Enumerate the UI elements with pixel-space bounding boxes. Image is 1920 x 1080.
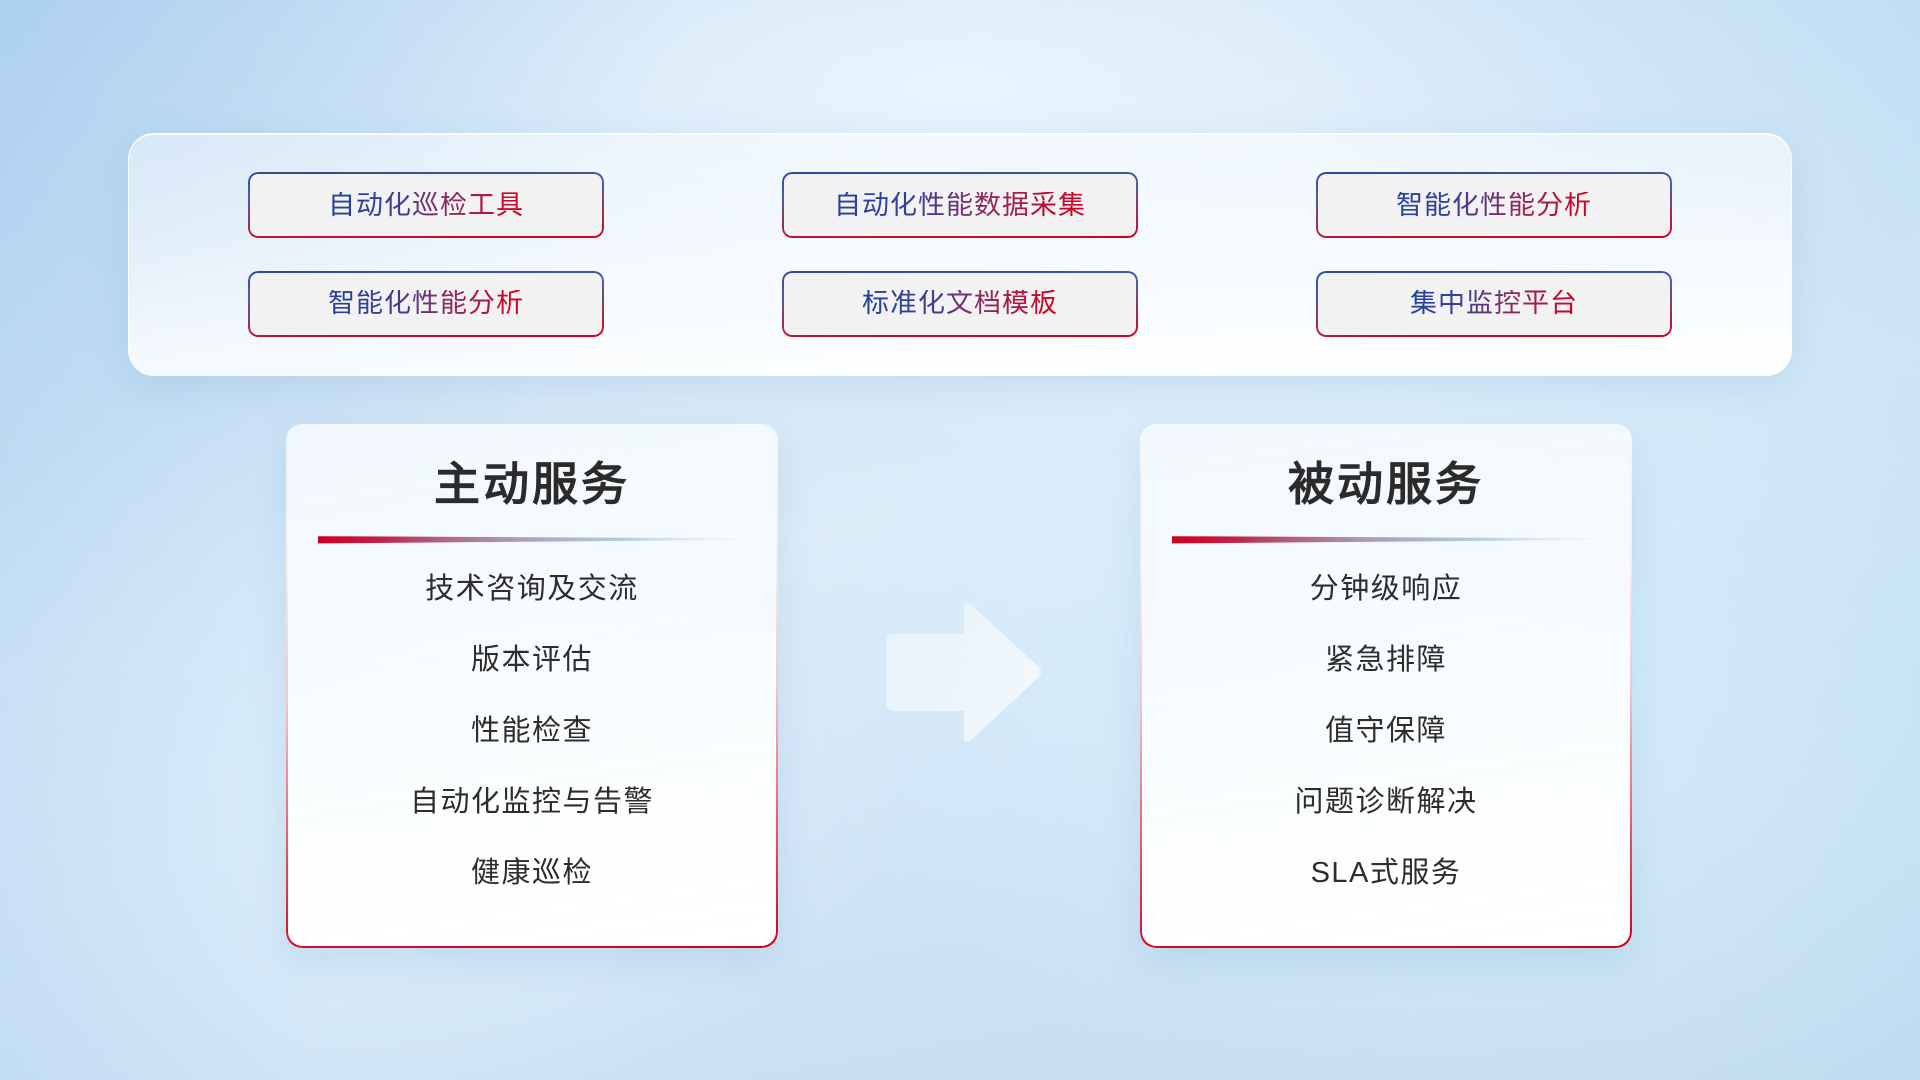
- card-title-divider: [318, 535, 746, 545]
- capability-tag-label: 自动化巡检工具: [328, 192, 524, 219]
- capability-tag[interactable]: 标准化文档模板: [782, 271, 1138, 337]
- capability-tag-label: 智能化性能分析: [1396, 192, 1592, 219]
- right-arrow-icon: [878, 598, 1044, 748]
- list-item: 自动化监控与告警: [286, 788, 778, 817]
- list-item: SLA式服务: [1140, 859, 1632, 888]
- capability-tag[interactable]: 智能化性能分析: [248, 271, 604, 337]
- capability-tag[interactable]: 自动化巡检工具: [248, 172, 604, 238]
- list-item: 值守保障: [1140, 717, 1632, 746]
- card-title: 被动服务: [1140, 458, 1632, 511]
- list-item: 健康巡检: [286, 859, 778, 888]
- capability-tag[interactable]: 自动化性能数据采集: [782, 172, 1138, 238]
- list-item: 分钟级响应: [1140, 575, 1632, 604]
- card-title: 主动服务: [286, 458, 778, 511]
- list-item: 版本评估: [286, 646, 778, 675]
- list-item: 紧急排障: [1140, 646, 1632, 675]
- capability-tag-label: 智能化性能分析: [328, 290, 524, 317]
- passive-service-card[interactable]: 被动服务 分钟级响应 紧急排障 值守保障 问题诊断解决 SLA式服务: [1140, 424, 1632, 948]
- capability-tag[interactable]: 集中监控平台: [1316, 271, 1672, 337]
- capability-tag-label: 集中监控平台: [1410, 290, 1578, 317]
- capability-tags-panel: 自动化巡检工具 自动化性能数据采集 智能化性能分析 智能化性能分析 标准化文档模…: [128, 133, 1792, 376]
- capability-tag-label: 标准化文档模板: [862, 290, 1058, 317]
- active-service-card[interactable]: 主动服务 技术咨询及交流 版本评估 性能检查 自动化监控与告警 健康巡检: [286, 424, 778, 948]
- capability-tag-label: 自动化性能数据采集: [834, 192, 1086, 219]
- capability-tag[interactable]: 智能化性能分析: [1316, 172, 1672, 238]
- list-item: 技术咨询及交流: [286, 575, 778, 604]
- active-service-list: 技术咨询及交流 版本评估 性能检查 自动化监控与告警 健康巡检: [286, 575, 778, 888]
- card-title-divider: [1172, 535, 1600, 545]
- list-item: 性能检查: [286, 717, 778, 746]
- passive-service-list: 分钟级响应 紧急排障 值守保障 问题诊断解决 SLA式服务: [1140, 575, 1632, 888]
- list-item: 问题诊断解决: [1140, 788, 1632, 817]
